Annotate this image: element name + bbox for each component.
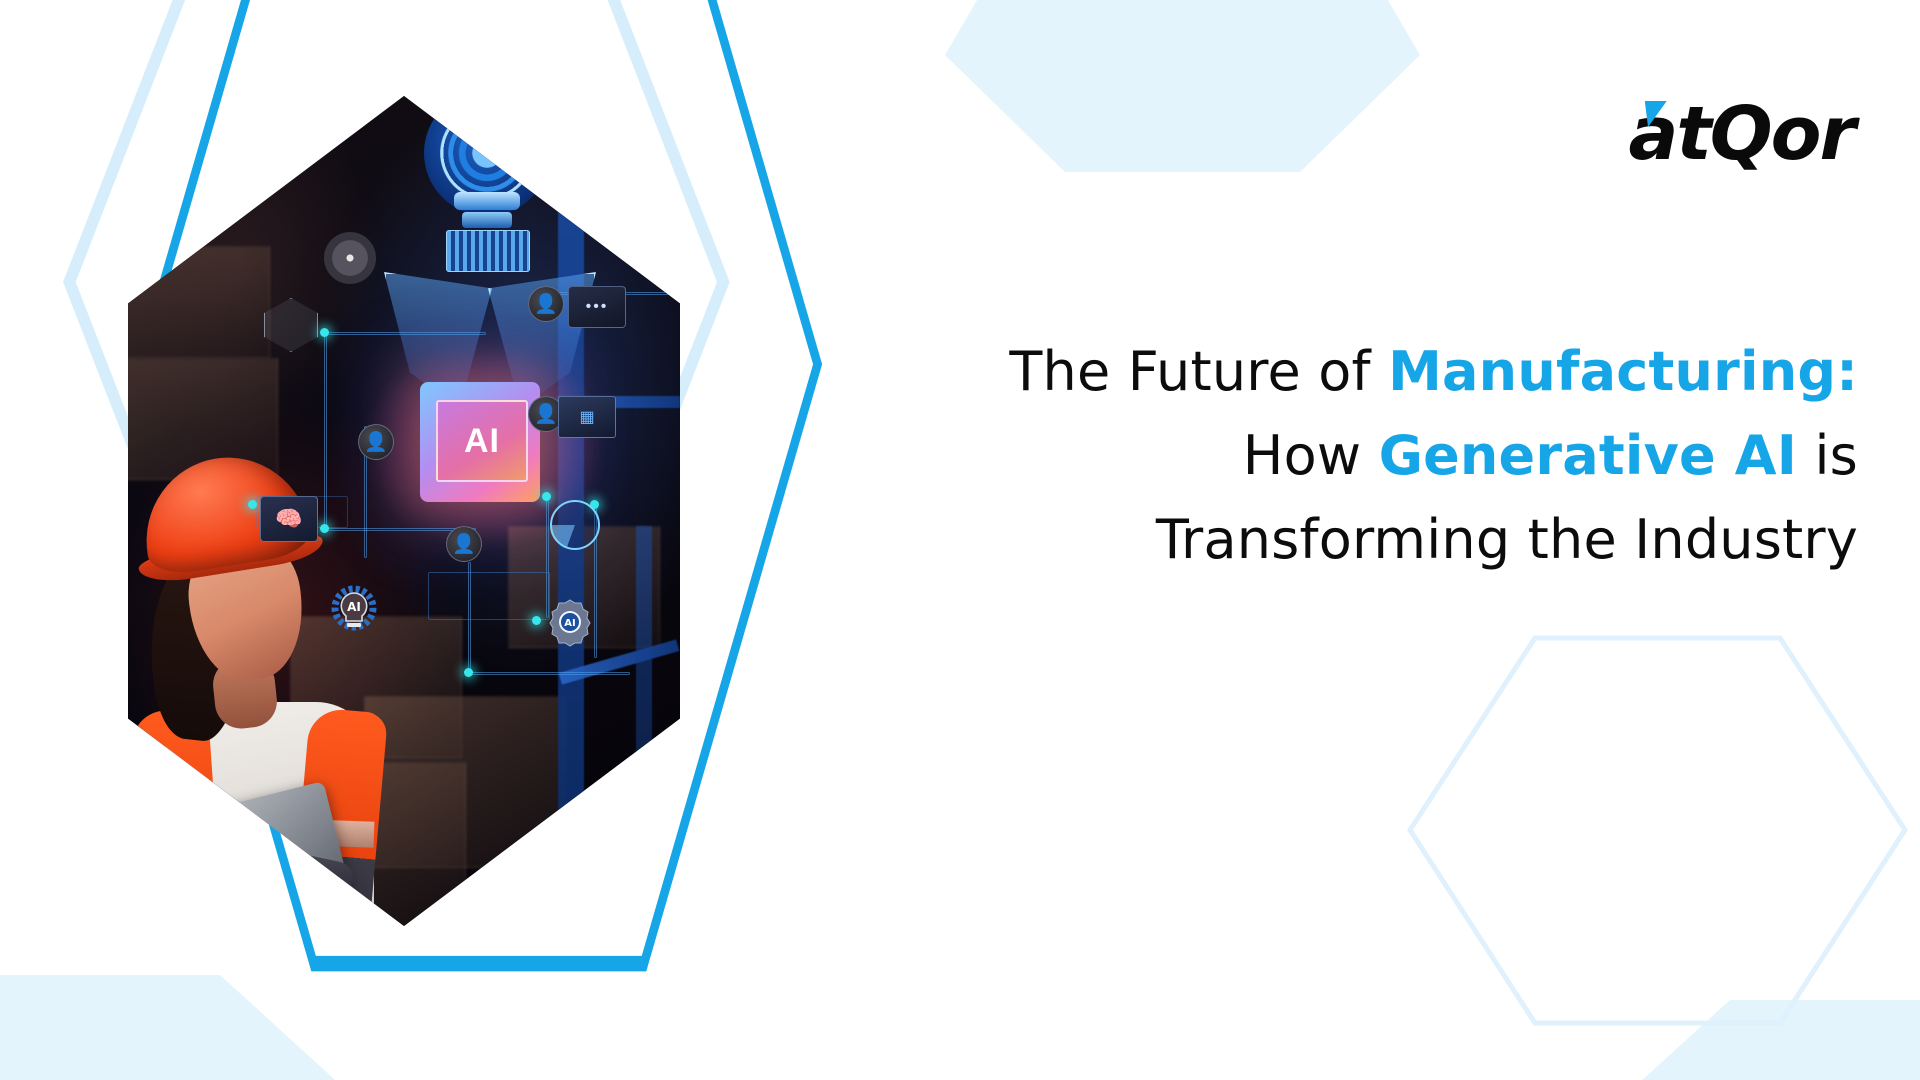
radar-dish-icon [324, 232, 376, 284]
decor-hex-fill-top [945, 0, 1420, 172]
brand-logo[interactable]: atQor [1524, 95, 1854, 173]
poster-canvas: AI [0, 0, 1920, 1080]
headline-line-2-accent: Generative AI [1379, 424, 1798, 487]
circuit-node [248, 500, 257, 509]
decor-hex-outline-right [1410, 638, 1905, 1023]
svg-text:AI: AI [564, 618, 575, 629]
hero-hexagon-cluster: AI [0, 0, 960, 1080]
hexagon-wireframe-icon [264, 298, 318, 352]
circuit-node [320, 328, 329, 337]
person-icon: 👤 [358, 424, 394, 460]
page-title: The Future of Manufacturing: How Generat… [918, 330, 1858, 582]
headline-line-1-prefix: The Future of [1009, 340, 1388, 403]
svg-text:AI: AI [347, 600, 361, 614]
headline-line-2: How Generative AI is [918, 414, 1858, 498]
person-icon: 👤 [528, 286, 564, 322]
circuit-node [464, 668, 473, 677]
headline-line-1: The Future of Manufacturing: [918, 330, 1858, 414]
headline-line-2-suffix: is [1797, 424, 1858, 487]
lightbulb-ai-icon: AI [328, 584, 380, 636]
circuit-grid [428, 572, 550, 620]
headline-line-1-accent: Manufacturing: [1388, 340, 1858, 403]
headline-line-3: Transforming the Industry [918, 498, 1858, 582]
logo-wordmark: atQor [1524, 95, 1854, 173]
circuit-line [468, 672, 630, 675]
circuit-node [532, 616, 541, 625]
circuit-line [324, 332, 486, 335]
person-icon: 👤 [446, 526, 482, 562]
status-dots-icon: ••• [568, 286, 626, 328]
gauge-icon [550, 500, 600, 550]
decor-hex-fill-bottom-right [1560, 1000, 1920, 1080]
circuit-node [320, 524, 329, 533]
circuit-node [542, 492, 551, 501]
brain-analytics-icon: 🧠 [260, 496, 318, 542]
gear-ai-icon: AI [544, 596, 590, 642]
headline-line-2-prefix: How [1243, 424, 1379, 487]
microchip-icon: ▦ [558, 396, 616, 438]
